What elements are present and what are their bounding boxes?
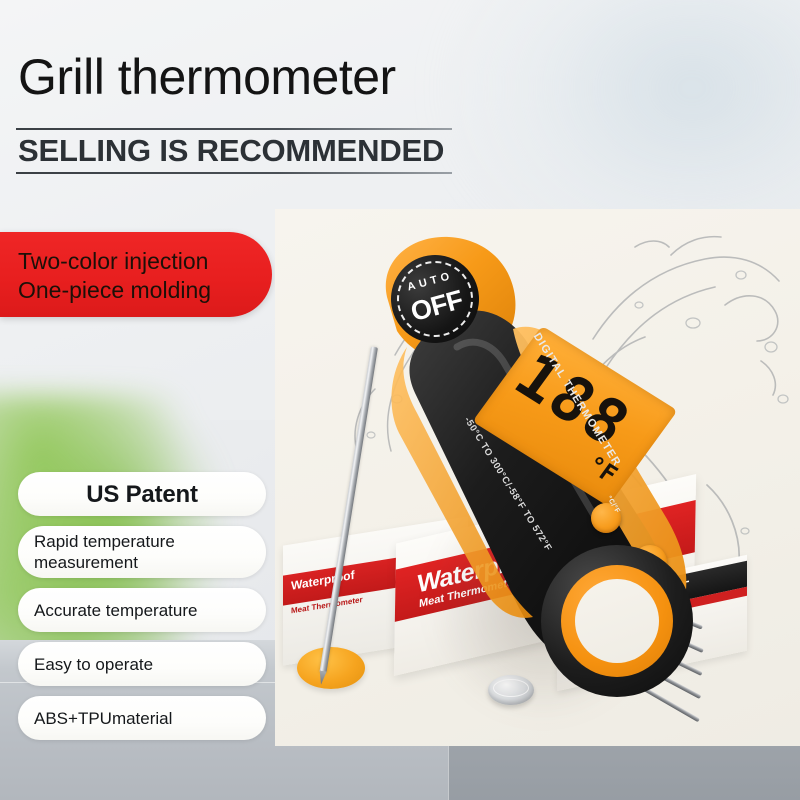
feature-pill-label: Easy to operate [34,654,153,675]
hanging-ring-hole [575,579,659,663]
feature-pill-easy-to-operate: Easy to operate [18,642,266,686]
feature-pill-label: Accurate temperature [34,600,197,621]
feature-pill-us-patent: US Patent [18,472,266,516]
product-photo-panel: Waterproof Meat Thermometer Waterproof M… [275,209,800,746]
highlight-banner: Two-color injection One-piece molding [0,232,272,317]
hanging-ring [541,545,693,697]
page-title: Grill thermometer [18,52,396,102]
divider-bottom [16,172,452,174]
product-poster: Grill thermometer SELLING IS RECOMMENDED… [0,0,800,800]
feature-pill-label: Rapid temperature measurement [34,531,224,573]
feature-list: US Patent Rapid temperature measurement … [18,472,266,750]
divider-top [16,128,452,130]
highlight-banner-line-2: One-piece molding [18,276,211,305]
feature-pill-label: ABS+TPUmaterial [34,708,172,729]
highlight-banner-line-1: Two-color injection [18,247,208,276]
thermometer-product: AUTO OFF 188 °F DIGITAL THERMOMETER -50°… [345,227,745,727]
feature-pill-accurate-temperature: Accurate temperature [18,588,266,632]
feature-pill-material: ABS+TPUmaterial [18,696,266,740]
feature-pill-label: US Patent [86,484,198,505]
page-subtitle: SELLING IS RECOMMENDED [18,132,444,170]
feature-pill-rapid-measurement: Rapid temperature measurement [18,526,266,578]
